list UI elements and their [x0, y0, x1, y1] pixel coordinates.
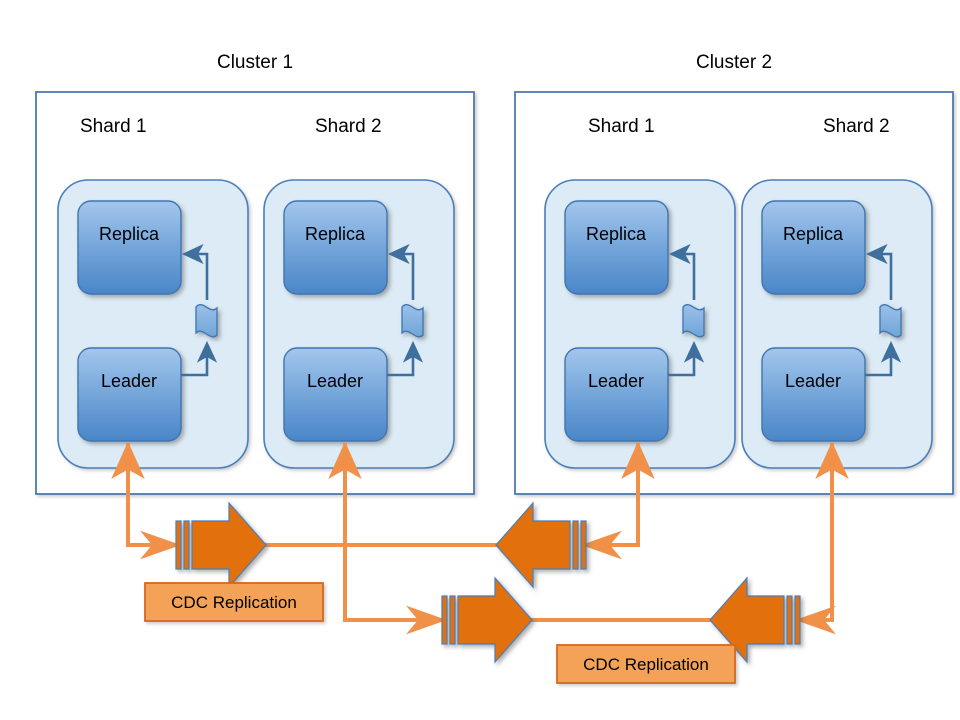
cluster-1-title: Cluster 1 [36, 52, 474, 74]
cluster-2-shard-2-replica-label: Replica [783, 224, 844, 244]
cluster-1-shard-1-replica-label: Replica [99, 224, 160, 244]
cluster-2-shard-2-title: Shard 2 [823, 116, 890, 138]
cluster-1-shard-2-leader-box[interactable] [284, 348, 387, 441]
cdc-1-left-chevron-icon [496, 503, 586, 587]
cluster-2-shard-2-leader-box[interactable] [762, 348, 865, 441]
cluster-2-shard-2-replica-box[interactable] [762, 201, 865, 294]
cluster-1-shard-1-replica-box[interactable] [78, 201, 181, 294]
cluster-1-shard-2-replica-label: Replica [305, 224, 366, 244]
cluster-2-shard-1-replica-label: Replica [586, 224, 647, 244]
cluster-1-shard-1-leader-label: Leader [101, 371, 157, 391]
cluster-1-shard-2-replica-box[interactable] [284, 201, 387, 294]
cluster-1-shard-1-title: Shard 1 [80, 116, 147, 138]
diagram-canvas: Replica Leader Replica Leader Replica Le… [0, 0, 960, 720]
cluster-2-shard-2-leader-label: Leader [785, 371, 841, 391]
cluster-1-shard-2-title: Shard 2 [315, 116, 382, 138]
cdc-1-label-text: CDC Replication [171, 593, 297, 612]
cdc-1-right-chevron-icon [176, 503, 266, 587]
cluster-2-shard-1-leader-label: Leader [588, 371, 644, 391]
cdc-2-label-text: CDC Replication [583, 655, 709, 674]
cluster-1-shard-1-leader-box[interactable] [78, 348, 181, 441]
cluster-2-shard-1-leader-box[interactable] [565, 348, 668, 441]
cluster-1-shard-2-leader-label: Leader [307, 371, 363, 391]
cluster-2-shard-1-replica-box[interactable] [565, 201, 668, 294]
diagram-shapes: Replica Leader Replica Leader Replica Le… [0, 0, 960, 720]
cdc-2-right-chevron-icon [442, 578, 532, 662]
cluster-2-shard-1-title: Shard 1 [588, 116, 655, 138]
cluster-2-title: Cluster 2 [515, 52, 953, 74]
